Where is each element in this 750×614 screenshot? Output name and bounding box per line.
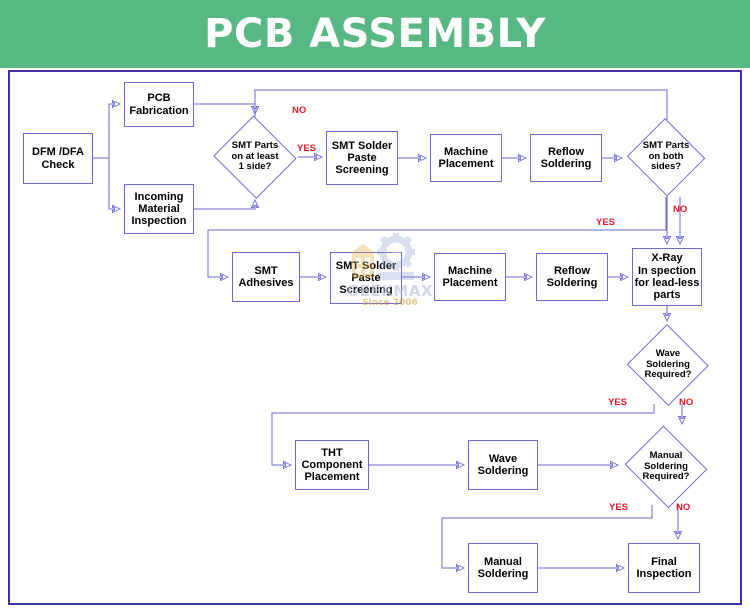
node-label-paste1: SMT SolderPasteScreening (332, 140, 393, 177)
node-label-machine2: MachinePlacement (442, 265, 497, 290)
node-paste2[interactable]: SMT SolderPasteScreening (330, 252, 402, 304)
node-wavesold[interactable]: WaveSoldering (468, 440, 538, 490)
node-machine1[interactable]: MachinePlacement (430, 134, 502, 182)
node-machine2[interactable]: MachinePlacement (434, 253, 506, 301)
node-label-dfm: DFM /DFACheck (32, 146, 84, 171)
node-label-manualsold: ManualSoldering (478, 556, 529, 581)
node-wavereq[interactable]: WaveSolderingRequired? (626, 325, 710, 405)
branch-flag-yes-6: YES (609, 502, 628, 513)
node-smtboth[interactable]: SMT Partson bothsides? (626, 119, 706, 195)
branch-flag-yes-1: YES (297, 143, 316, 154)
node-label-reflow1: ReflowSoldering (541, 146, 592, 171)
node-label-reflow2: ReflowSoldering (547, 265, 598, 290)
node-adhesive[interactable]: SMTAdhesives (232, 252, 300, 302)
branch-flag-no-7: NO (676, 502, 690, 513)
node-finalinsp[interactable]: FinalInspection (628, 543, 700, 593)
node-label-manualreq: ManualSolderingRequired? (643, 451, 690, 484)
node-manualsold[interactable]: ManualSoldering (468, 543, 538, 593)
branch-flag-yes-2: YES (596, 217, 615, 228)
edge-pcbfab-to-smt1side (194, 104, 255, 114)
node-dfm[interactable]: DFM /DFACheck (23, 133, 93, 184)
branch-flag-yes-4: YES (608, 397, 627, 408)
edge-dfm-to-pcbfab (93, 104, 120, 158)
node-manualreq[interactable]: ManualSolderingRequired? (622, 428, 710, 506)
node-label-adhesive: SMTAdhesives (238, 265, 293, 290)
node-label-finalinsp: FinalInspection (636, 556, 691, 581)
node-pcbfab[interactable]: PCBFabrication (124, 82, 194, 127)
node-label-paste2: SMT SolderPasteScreening (336, 260, 397, 297)
node-paste1[interactable]: SMT SolderPasteScreening (326, 131, 398, 185)
node-label-wavereq: WaveSolderingRequired? (645, 349, 692, 382)
node-tht[interactable]: THTComponentPlacement (295, 440, 369, 490)
node-label-machine1: MachinePlacement (438, 146, 493, 171)
pcb-assembly-flowchart-page: PCB ASSEMBLY (0, 0, 750, 614)
node-incoming[interactable]: IncomingMaterialInspection (124, 184, 194, 234)
node-label-incoming: IncomingMaterialInspection (131, 191, 186, 228)
branch-flag-no-3: NO (673, 204, 687, 215)
node-xray[interactable]: X-RayIn spectionfor lead-lessparts (632, 248, 702, 306)
node-label-xray: X-RayIn spectionfor lead-lessparts (635, 252, 700, 301)
node-label-pcbfab: PCBFabrication (129, 92, 188, 117)
node-reflow1[interactable]: ReflowSoldering (530, 134, 602, 182)
node-label-tht: THTComponentPlacement (301, 447, 362, 484)
node-label-smt1side: SMT Partson at least1 side? (232, 141, 279, 174)
node-label-smtboth: SMT Partson bothsides? (643, 141, 689, 174)
edge-dfm-to-incoming (93, 158, 120, 209)
edge-incoming-to-smt1side (194, 200, 255, 209)
node-reflow2[interactable]: ReflowSoldering (536, 253, 608, 301)
connector-layer (0, 0, 750, 614)
branch-flag-no-0: NO (292, 105, 306, 116)
node-smt1side[interactable]: SMT Partson at least1 side? (212, 117, 298, 197)
branch-flag-no-5: NO (679, 397, 693, 408)
node-label-wavesold: WaveSoldering (478, 453, 529, 478)
